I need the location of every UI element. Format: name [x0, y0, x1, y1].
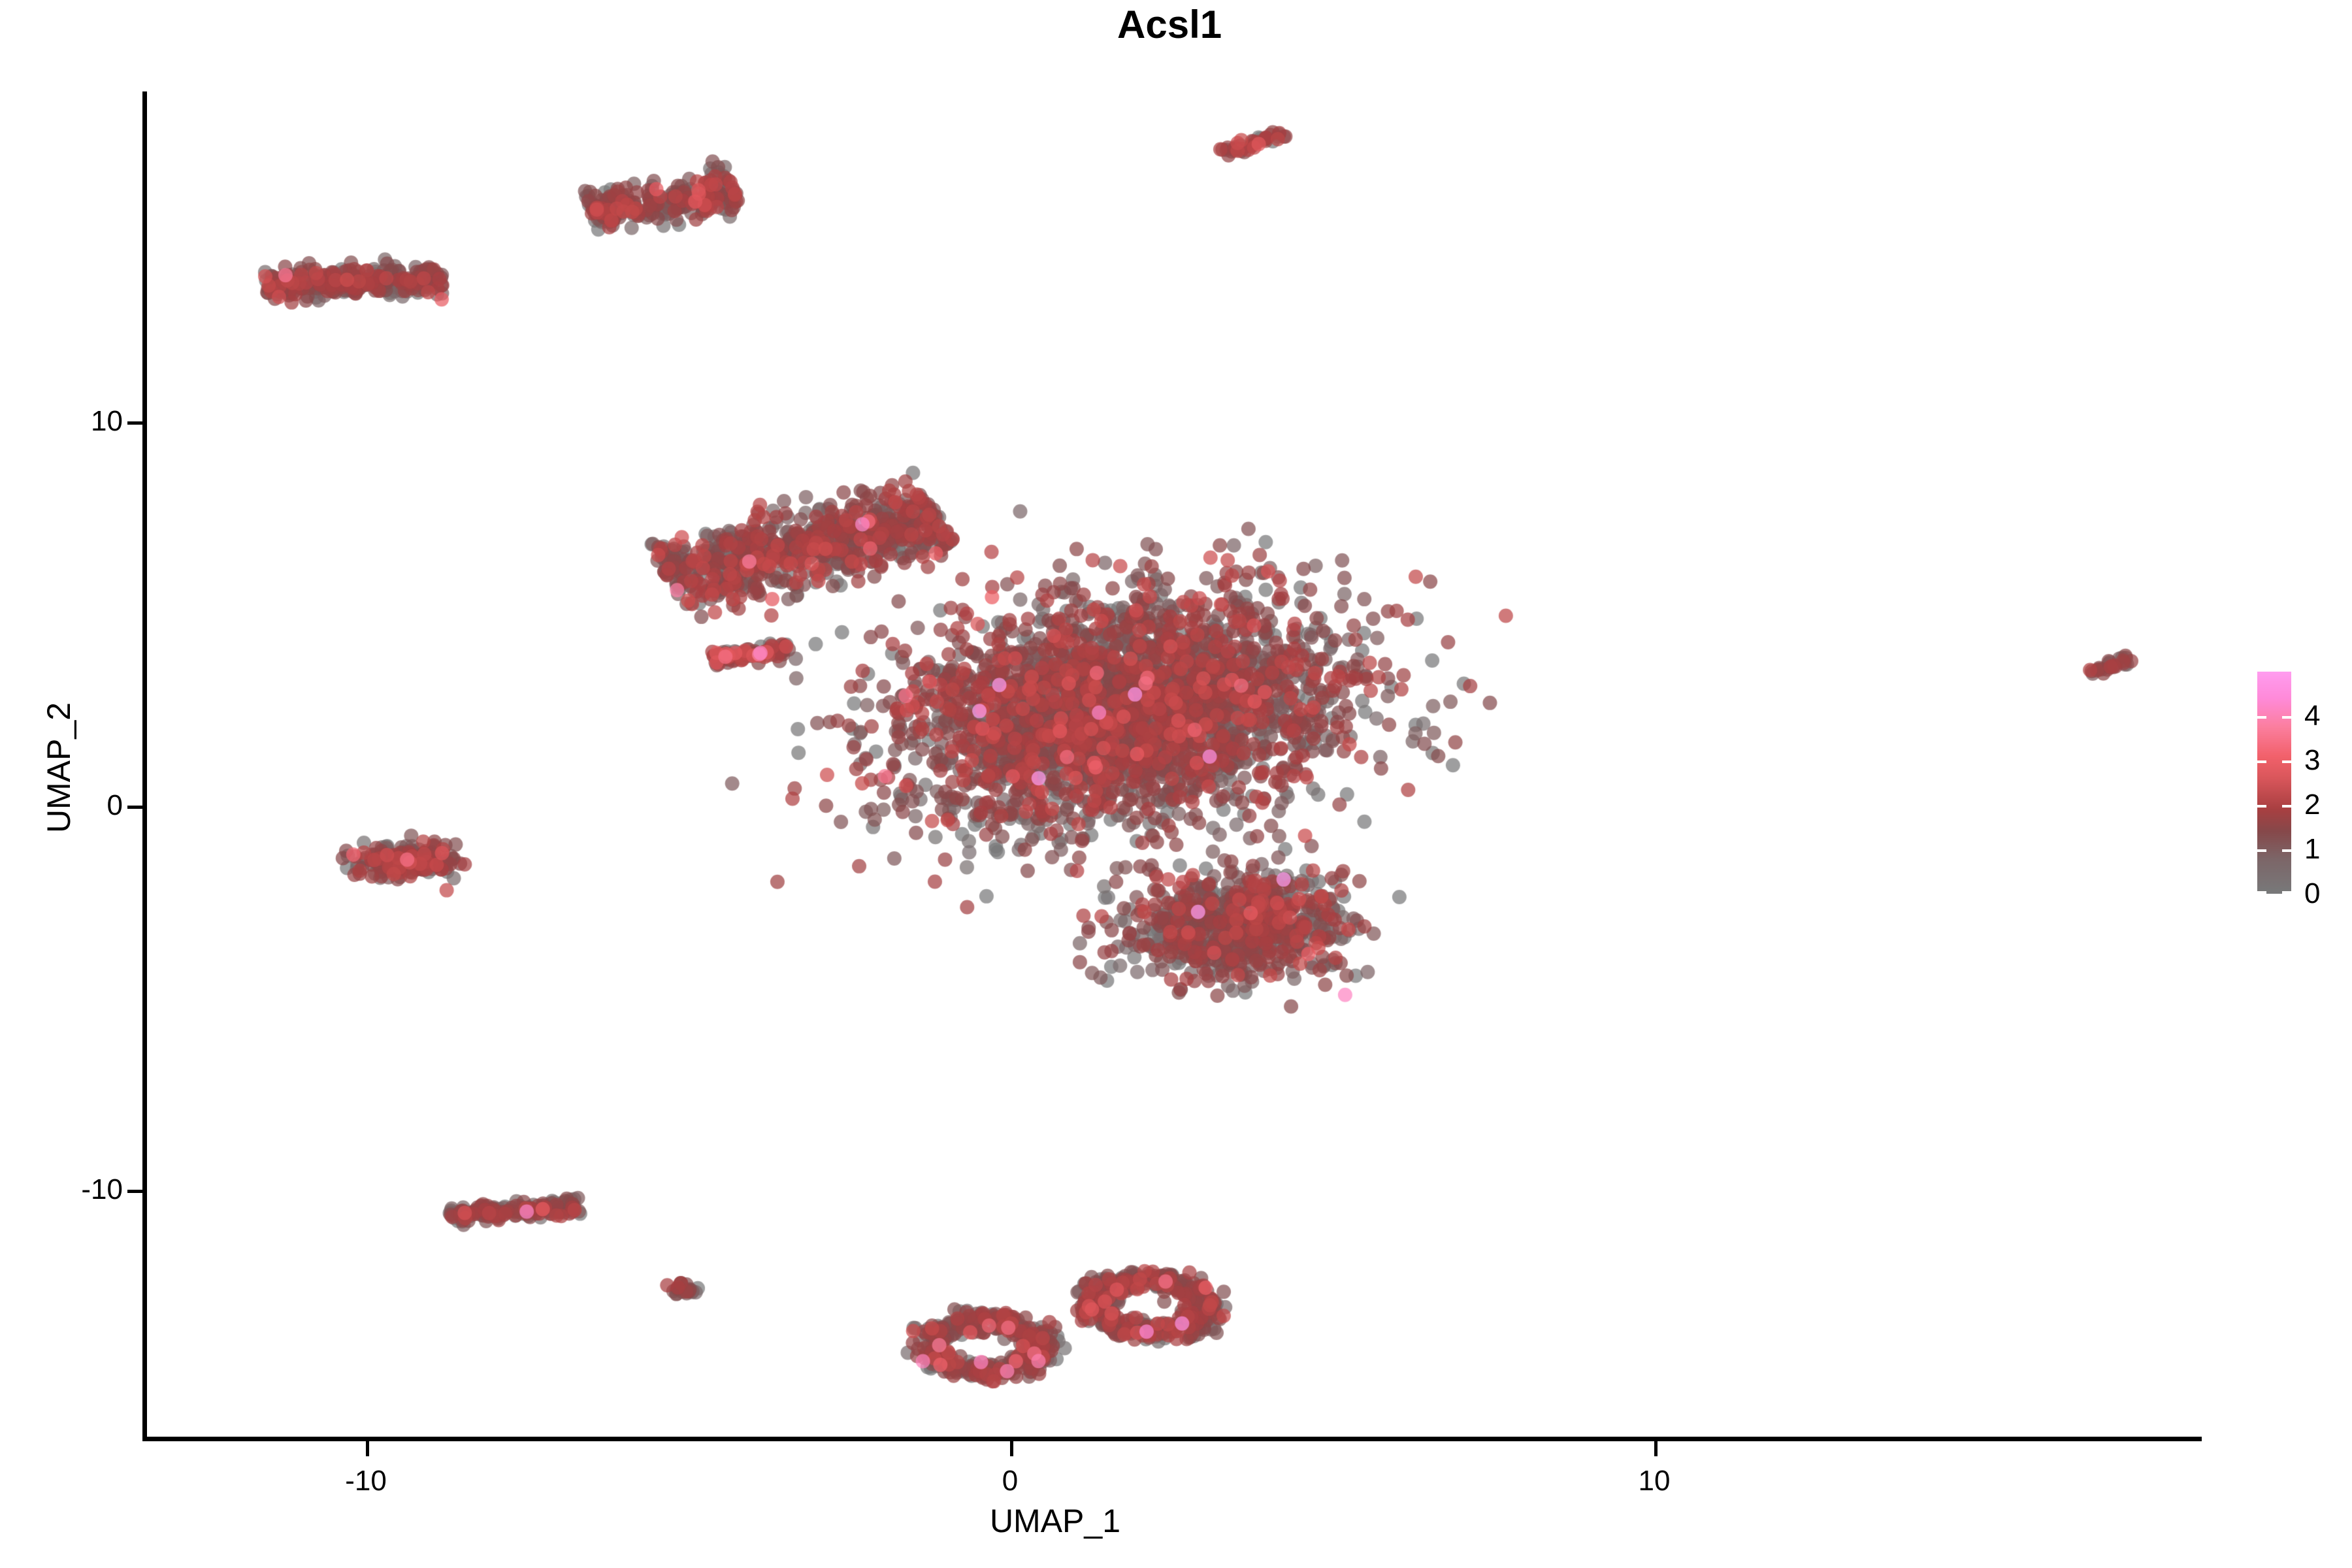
- x-axis-title-text: UMAP_1: [990, 1503, 1120, 1539]
- y-tick-0: [127, 806, 142, 809]
- legend-tick-right-0: [2282, 891, 2291, 894]
- legend-tick-left-2: [2257, 805, 2266, 808]
- y-tick-label-10: 10: [91, 407, 123, 436]
- y-tick-neg10: [127, 1190, 142, 1193]
- legend-tick-left-3: [2257, 760, 2266, 763]
- legend-tick-right-4: [2282, 716, 2291, 719]
- legend-label-3: 3: [2304, 746, 2320, 775]
- y-tick-label-neg10: -10: [81, 1175, 123, 1204]
- legend-tick-right-3: [2282, 760, 2291, 763]
- legend-tick-right-2: [2282, 805, 2291, 808]
- legend-label-1: 1: [2304, 835, 2320, 864]
- x-tick-neg10: [366, 1441, 369, 1456]
- y-axis-title-wrap: UMAP_2: [0, 0, 78, 1568]
- plot-panel: [145, 91, 2203, 1440]
- legend-label-4: 4: [2304, 702, 2320, 730]
- legend-tick-left-4: [2257, 716, 2266, 719]
- y-tick-10: [127, 421, 142, 425]
- y-tick-label-0: 0: [107, 791, 123, 820]
- figure-root: Acsl1 10 0 -10 -10 0 10 UMAP_1 UMAP_2: [0, 0, 2352, 1568]
- umap-scatter-canvas: [145, 91, 2203, 1440]
- x-axis-line: [142, 1437, 2202, 1441]
- legend-tick-right-1: [2282, 849, 2291, 852]
- legend-label-2: 2: [2304, 791, 2320, 819]
- x-tick-label-neg10: -10: [301, 1467, 431, 1495]
- legend-colorbar: 4 3 2 1 0: [2257, 666, 2349, 902]
- x-tick-10: [1654, 1441, 1658, 1456]
- x-axis-title: UMAP_1: [0, 1505, 2352, 1537]
- x-tick-0: [1010, 1441, 1013, 1456]
- plot-title-text: Acsl1: [1117, 5, 1222, 44]
- y-axis-title-text: UMAP_2: [41, 702, 77, 833]
- y-axis-line: [142, 91, 147, 1441]
- y-axis-title: UMAP_2: [42, 343, 75, 1192]
- x-tick-label-0: 0: [945, 1467, 1075, 1495]
- legend-tick-left-0: [2257, 891, 2266, 894]
- x-tick-label-10: 10: [1589, 1467, 1720, 1495]
- legend-label-0: 0: [2304, 879, 2320, 908]
- legend-tick-left-1: [2257, 849, 2266, 852]
- legend-gradient-bar: [2257, 672, 2291, 894]
